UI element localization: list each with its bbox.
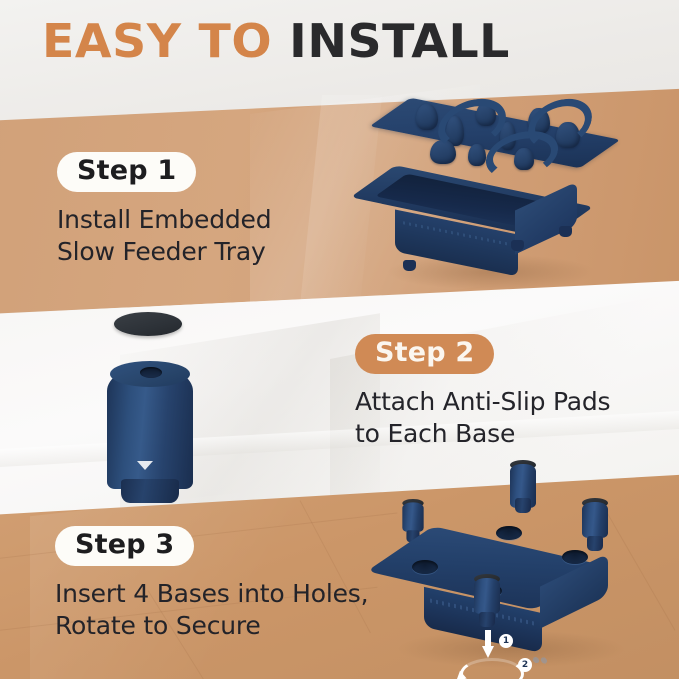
insert-down-arrow-icon: [482, 630, 494, 660]
bowl-foot: [559, 226, 572, 237]
feeder-nub: [416, 104, 438, 130]
base-leg-body: [474, 578, 500, 614]
base-mounting-hole: [496, 526, 522, 540]
step-2-badge: Step 2: [355, 334, 494, 374]
step-3-badge: Step 3: [55, 526, 194, 566]
bowl-foot: [511, 240, 524, 251]
infographic-canvas: EASY TO INSTALL Step 1 Install Embedded …: [0, 0, 679, 679]
anti-slip-pad: [114, 312, 182, 336]
feeder-bowl-base: [373, 168, 571, 260]
step-2-product-illustration: [98, 312, 258, 512]
floating-base-leg: [506, 460, 540, 516]
page-title-accent: EASY TO: [42, 14, 289, 68]
step-2-caption: Attach Anti-Slip Pads to Each Base: [355, 386, 610, 450]
step-1-caption: Install Embedded Slow Feeder Tray: [57, 204, 271, 268]
insert-step-marker: 1: [499, 634, 513, 648]
page-title-main: INSTALL: [289, 14, 510, 68]
base-mounting-hole: [562, 550, 588, 564]
base-leg-neck: [479, 612, 495, 627]
rotate-arrow-icon: [460, 658, 524, 679]
alignment-arrow-icon: [137, 461, 153, 470]
base-leg-collar: [121, 479, 179, 503]
page-title: EASY TO INSTALL: [42, 18, 510, 64]
step-1-text-block: Step 1 Install Embedded Slow Feeder Tray: [57, 152, 271, 268]
step-3-text-block: Step 3 Insert 4 Bases into Holes, Rotate…: [55, 526, 368, 642]
base-leg-screw-hole: [140, 367, 162, 378]
arrow-head: [482, 646, 494, 658]
bowl-foot: [403, 260, 416, 271]
base-leg-neck: [515, 498, 531, 513]
step-3-product-illustration: 1 2: [378, 452, 670, 667]
feeder-base-leg: [107, 357, 193, 497]
inserting-base-leg: [470, 574, 504, 630]
step-2-text-block: Step 2 Attach Anti-Slip Pads to Each Bas…: [355, 334, 610, 450]
step-1-product-illustration: [368, 96, 668, 296]
feeder-tray-underside: 1 2: [400, 522, 630, 652]
base-mounting-hole: [412, 560, 438, 574]
step-1-badge: Step 1: [57, 152, 196, 192]
step-3-caption: Insert 4 Bases into Holes, Rotate to Sec…: [55, 578, 368, 642]
